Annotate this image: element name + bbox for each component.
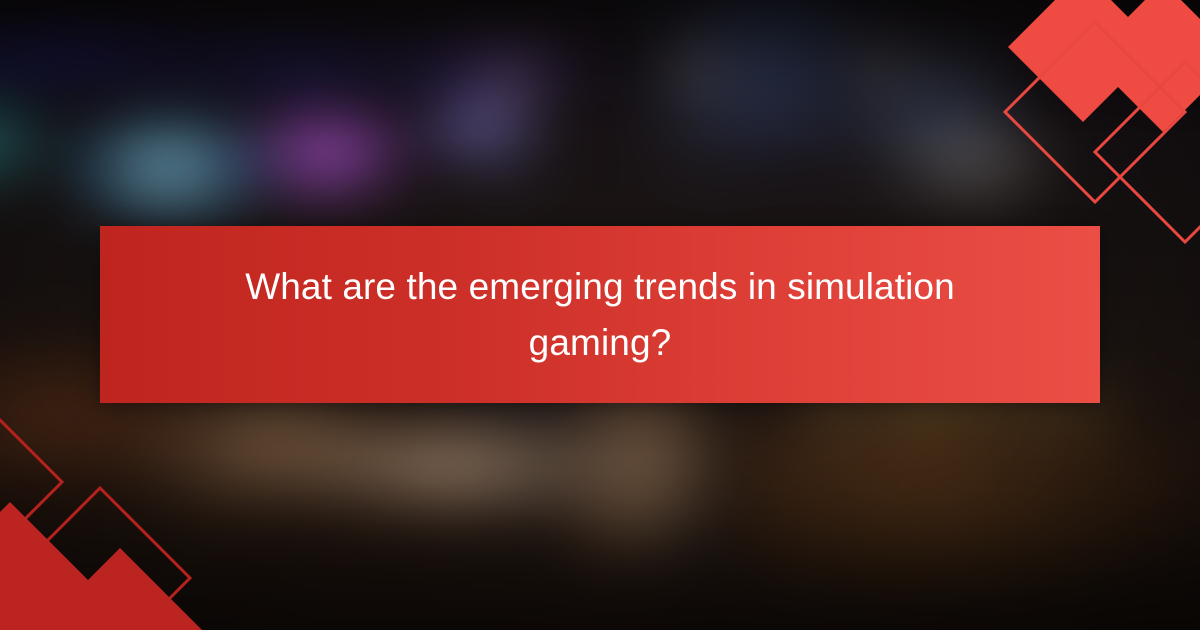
headline-banner: What are the emerging trends in simulati… <box>100 226 1100 403</box>
page-title: What are the emerging trends in simulati… <box>220 259 980 371</box>
social-share-card: What are the emerging trends in simulati… <box>0 0 1200 630</box>
